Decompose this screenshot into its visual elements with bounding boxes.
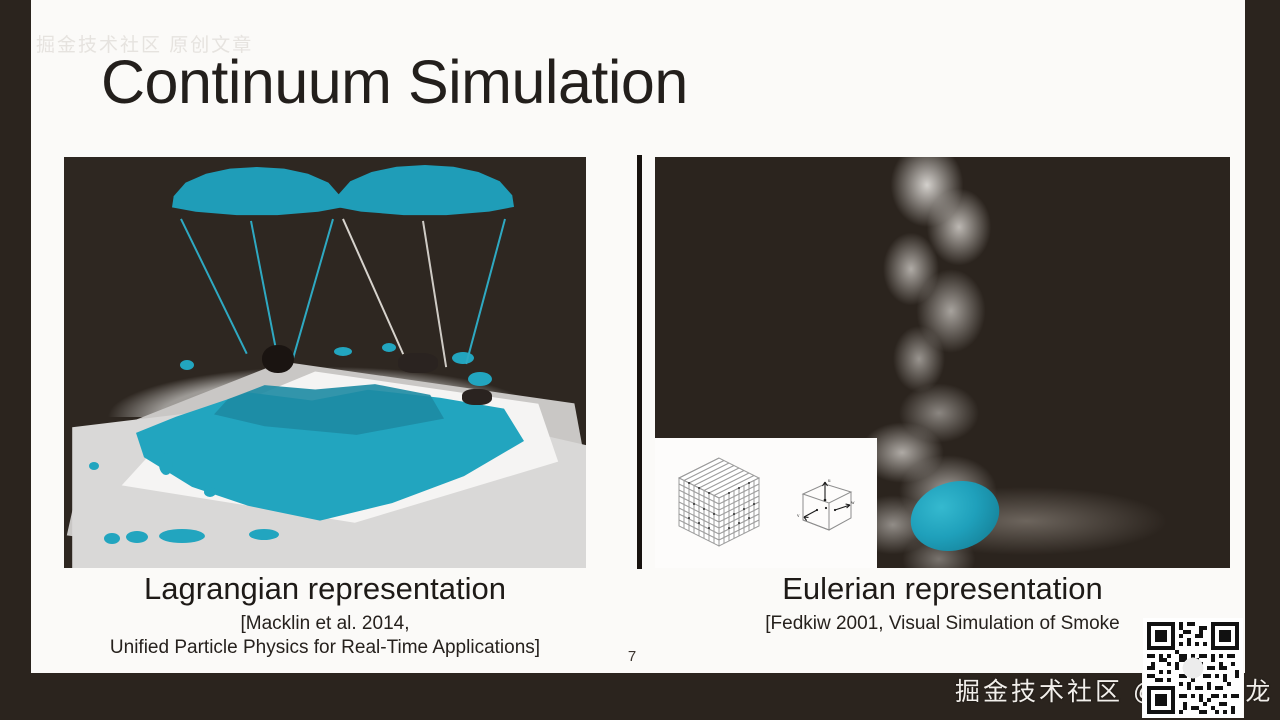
droplet <box>334 347 352 356</box>
caption-lagrangian: Lagrangian representation [Macklin et al… <box>64 572 586 660</box>
parachute-right <box>336 165 514 269</box>
voxel-grid-cube-icon <box>671 452 767 552</box>
column-divider <box>637 155 642 569</box>
grid-diagram-inset: u v w <box>655 438 877 568</box>
droplet <box>204 487 216 497</box>
parachute-canopy <box>336 165 514 223</box>
page-title: Continuum Simulation <box>101 52 688 113</box>
screenshot-root: 掘金技术社区 原创文章 Continuum Simulation <box>0 0 1280 720</box>
droplet <box>249 529 279 540</box>
page-number: 7 <box>617 648 647 665</box>
droplet <box>159 453 173 475</box>
mac-grid-cell-icon: u v w <box>795 476 859 538</box>
parachute-payload <box>262 345 294 373</box>
smoke-plume-upper <box>835 157 1035 449</box>
droplet <box>382 343 396 352</box>
svg-text:v: v <box>797 514 800 519</box>
parachute-left <box>172 167 342 267</box>
qr-code[interactable] <box>1142 618 1244 718</box>
droplet <box>180 360 194 370</box>
droplet <box>468 372 492 386</box>
caption-lagrangian-citation-2: Unified Particle Physics for Real-Time A… <box>64 636 586 660</box>
droplet <box>452 352 474 364</box>
droplet <box>126 531 148 543</box>
figure-lagrangian <box>64 157 586 568</box>
qr-code-image <box>1142 618 1244 718</box>
parachute-canopy <box>172 167 342 223</box>
slide-canvas: 掘金技术社区 原创文章 Continuum Simulation <box>31 0 1245 673</box>
caption-lagrangian-citation-1: [Macklin et al. 2014, <box>64 612 586 636</box>
debris-chunk <box>462 389 492 405</box>
caption-eulerian-title: Eulerian representation <box>655 572 1230 606</box>
droplet <box>89 462 99 470</box>
caption-lagrangian-title: Lagrangian representation <box>64 572 586 606</box>
droplet <box>104 533 120 544</box>
svg-text:u: u <box>828 479 831 484</box>
figure-eulerian: u v w <box>655 157 1230 568</box>
debris-chunk <box>398 353 438 373</box>
droplet <box>159 529 205 543</box>
svg-text:w: w <box>851 501 855 506</box>
